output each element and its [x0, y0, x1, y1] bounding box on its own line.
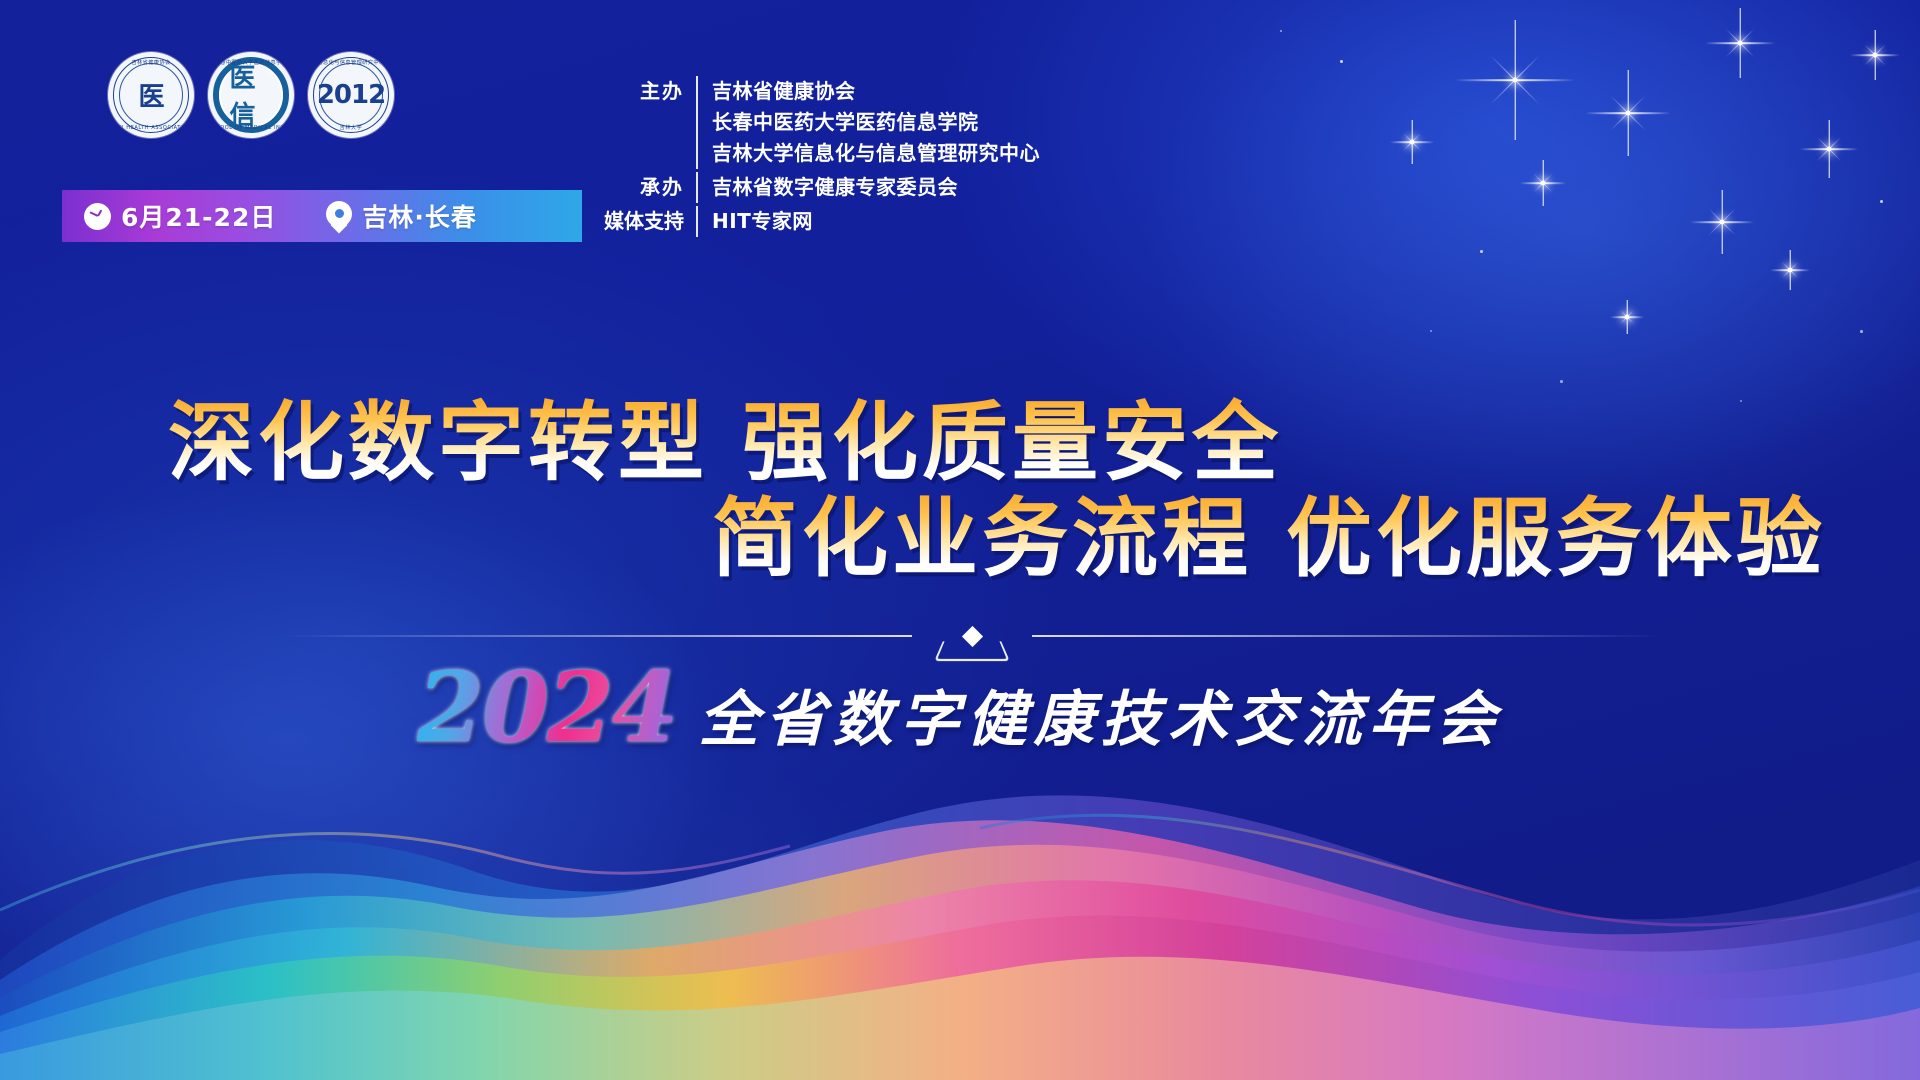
- star-dot: [1880, 200, 1883, 203]
- star-dot: [1340, 60, 1343, 63]
- sparkle-icon: [1705, 8, 1775, 78]
- logo-arc-bottom: 吉林大学: [308, 124, 394, 131]
- star-dot: [1480, 250, 1483, 253]
- organizer-line: HIT专家网: [712, 206, 813, 237]
- sparkle-icon: [1585, 70, 1671, 156]
- organizer-values: HIT专家网: [696, 206, 813, 237]
- organizer-label: 媒体支持: [600, 206, 696, 237]
- logo-mark: 2012: [317, 80, 385, 110]
- logo-mark: 医: [138, 77, 163, 114]
- star-dot: [1280, 30, 1282, 32]
- event-location: 吉林·长春: [362, 198, 477, 234]
- organizer-values: 吉林省健康协会 长春中医药大学医药信息学院 吉林大学信息化与信息管理研究中心: [696, 76, 1040, 169]
- star-dot: [1560, 380, 1563, 383]
- star-dot: [1860, 330, 1863, 333]
- event-date-group: 6月21-22日: [62, 198, 292, 234]
- logo-arc-top: 吉林省健康协会: [108, 59, 194, 66]
- logo-arc-bottom: SCHOOL OF MEDICAL INFORMATION: [208, 125, 294, 131]
- logo-jilin-university-research-center: 信息化与信息管理研究中心 2012 吉林大学: [308, 52, 394, 138]
- sparkle-icon: [1390, 120, 1434, 164]
- sparkle-icon: [1690, 190, 1754, 254]
- sparkle-icon: [1850, 30, 1900, 80]
- decorative-waves: [0, 660, 1920, 1080]
- organizer-credits: 主办 吉林省健康协会 长春中医药大学医药信息学院 吉林大学信息化与信息管理研究中…: [600, 76, 1040, 240]
- event-info-bar: 6月21-22日 吉林·长春: [62, 190, 582, 242]
- event-location-group: 吉林·长春: [292, 198, 493, 234]
- clock-icon: [84, 203, 111, 230]
- location-pin-icon: [326, 201, 352, 231]
- headline: 深化数字转型 强化质量安全 简化业务流程 优化服务体验: [0, 395, 1920, 588]
- logo-mark: 医信: [230, 58, 273, 132]
- organizer-line: 吉林省健康协会: [712, 76, 1040, 107]
- organizer-line: 吉林省数字健康专家委员会: [712, 172, 958, 203]
- organizer-line: 吉林大学信息化与信息管理研究中心: [712, 138, 1040, 169]
- organizer-logos: 吉林省健康协会 医 JILIN HEALTH ASSOCIATION 长春中医药…: [108, 52, 394, 138]
- organizer-line: 长春中医药大学医药信息学院: [712, 107, 1040, 138]
- headline-line-2: 简化业务流程 优化服务体验: [0, 491, 1920, 587]
- organizer-row-coorganizer: 承办 吉林省数字健康专家委员会: [600, 172, 1040, 203]
- organizer-row-host: 主办 吉林省健康协会 长春中医药大学医药信息学院 吉林大学信息化与信息管理研究中…: [600, 76, 1040, 169]
- sparkle-icon: [1610, 300, 1644, 334]
- logo-arc-bottom: JILIN HEALTH ASSOCIATION: [108, 125, 194, 131]
- organizer-values: 吉林省数字健康专家委员会: [696, 172, 958, 203]
- star-dot: [1430, 330, 1432, 332]
- headline-line-1: 深化数字转型 强化质量安全: [0, 395, 1920, 491]
- event-date: 6月21-22日: [121, 198, 276, 234]
- sparkle-icon: [1520, 160, 1566, 206]
- sparkle-icon: [1770, 250, 1810, 290]
- logo-jilin-health-association: 吉林省健康协会 医 JILIN HEALTH ASSOCIATION: [108, 52, 194, 138]
- sparkle-icon: [1800, 120, 1858, 178]
- sparkle-icon: [1455, 20, 1575, 140]
- chevron-down-icon: [934, 641, 1010, 661]
- logo-arc-top: 信息化与信息管理研究中心: [308, 59, 394, 66]
- banner-stage: 吉林省健康协会 医 JILIN HEALTH ASSOCIATION 长春中医药…: [0, 0, 1920, 1080]
- organizer-row-media: 媒体支持 HIT专家网: [600, 206, 1040, 237]
- organizer-label: 承办: [600, 172, 696, 203]
- organizer-label: 主办: [600, 76, 696, 107]
- logo-changchun-medical-information: 长春中医药大学医药信息学院 医信 SCHOOL OF MEDICAL INFOR…: [208, 52, 294, 138]
